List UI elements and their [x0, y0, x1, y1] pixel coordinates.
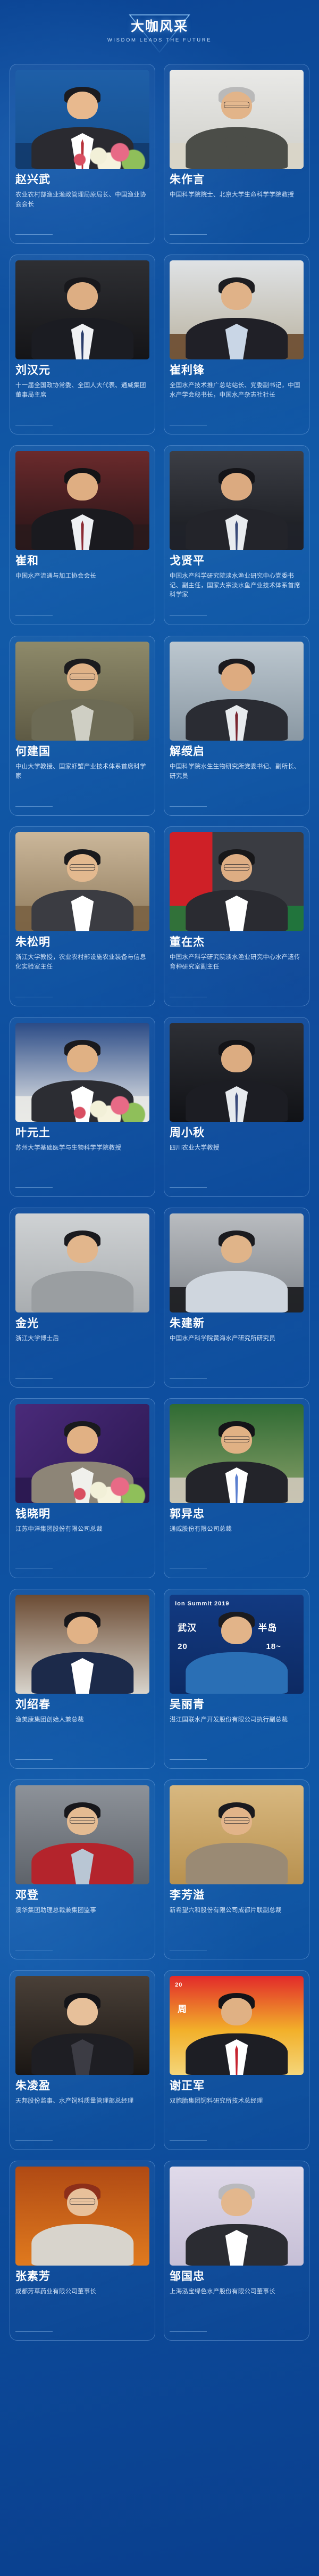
- person-name: 赵兴武: [15, 174, 149, 187]
- person-name: 崔利锋: [170, 364, 304, 378]
- flower-bouquet: [15, 1076, 149, 1122]
- person-title: 苏州大学基础医学与生物科学学院教授: [15, 1144, 149, 1182]
- person-name: 朱凌盈: [15, 2080, 149, 2093]
- person-card[interactable]: 周小秋四川农业大学教授: [164, 1017, 309, 1197]
- person-name: 刘汉元: [15, 364, 149, 378]
- card-divider: [170, 425, 207, 425]
- flower-bouquet: [15, 1457, 149, 1503]
- person-photo: [15, 1976, 149, 2075]
- person-title: 中国水产科学研究院淡水渔业研究中心党委书记、副主任，国家大宗淡水鱼产业技术体系首…: [170, 572, 304, 610]
- person-photo: [15, 1213, 149, 1312]
- card-divider: [170, 997, 207, 997]
- person-title: 新希望六和股份有限公司成都片联副总裁: [170, 1906, 304, 1945]
- photo-illustration: [15, 1976, 149, 2075]
- photo-illustration: ion Summit 2019武汉半岛2018~: [170, 1595, 304, 1694]
- person-photo: [170, 1785, 304, 1884]
- person-name: 钱晓明: [15, 1508, 149, 1521]
- glasses-icon: [224, 864, 249, 871]
- person-name: 刘绍春: [15, 1699, 149, 1712]
- photo-overlay-text: 武汉: [178, 1620, 197, 1634]
- face-shape: [67, 282, 98, 310]
- photo-illustration: [170, 2167, 304, 2266]
- page-header: 大咖风采 WISDOM LEADS THE FUTURE: [0, 0, 319, 58]
- photo-overlay-text: 20: [175, 1982, 182, 1988]
- face-shape: [221, 1998, 252, 2025]
- card-divider: [170, 2331, 207, 2332]
- person-card[interactable]: 李芳溢新希望六和股份有限公司成都片联副总裁: [164, 1779, 309, 1959]
- person-card[interactable]: 朱松明浙江大学教授，农业农村部设施农业装备与信息化实验室主任: [10, 826, 155, 1006]
- person-name: 朱松明: [15, 936, 149, 949]
- person-photo: [15, 1404, 149, 1503]
- person-card[interactable]: 金光浙江大学博士后: [10, 1208, 155, 1388]
- photo-illustration: [15, 642, 149, 741]
- face-shape: [221, 663, 252, 691]
- photo-illustration: [170, 451, 304, 550]
- person-card[interactable]: 郭异忠通威股份有限公司总裁: [164, 1398, 309, 1578]
- card-divider: [170, 1759, 207, 1760]
- person-card[interactable]: 张素芳成都芳草药业有限公司董事长: [10, 2161, 155, 2341]
- person-name: 朱建新: [170, 1317, 304, 1331]
- card-divider: [170, 616, 207, 616]
- person-photo: [15, 642, 149, 741]
- card-divider: [15, 1759, 53, 1760]
- person-card[interactable]: 朱作言中国科学院院士、北京大学生命科学学院教授: [164, 64, 309, 244]
- person-card[interactable]: 邹国忠上海泓宝绿色水产股份有限公司董事长: [164, 2161, 309, 2341]
- person-title: 渔美康集团创始人兼总裁: [15, 1716, 149, 1754]
- photo-illustration: [15, 451, 149, 550]
- card-divider: [15, 1187, 53, 1188]
- person-photo: [170, 451, 304, 550]
- photo-illustration: 20周: [170, 1976, 304, 2075]
- photo-overlay-text: 半岛: [258, 1620, 277, 1634]
- person-title: 浙江大学教授，农业农村部设施农业装备与信息化实验室主任: [15, 953, 149, 991]
- person-photo: [15, 1023, 149, 1122]
- person-photo: [170, 1023, 304, 1122]
- person-title: 湛江国联水产开发股份有限公司执行副总裁: [170, 1716, 304, 1754]
- person-name: 邹国忠: [170, 2270, 304, 2284]
- face-shape: [221, 2188, 252, 2216]
- person-title: 中国水产科学研究院淡水渔业研究中心水产遗传育种研究室副主任: [170, 953, 304, 991]
- person-name: 金光: [15, 1317, 149, 1331]
- people-grid: 赵兴武农业农村部渔业渔政管理局原局长、中国渔业协会会长朱作言中国科学院院士、北京…: [0, 58, 319, 2362]
- person-title: 中国科学院水生生物研究所党委书记、副所长、研究员: [170, 762, 304, 801]
- person-card[interactable]: 何建国中山大学教授、国家虾蟹产业技术体系首席科学家: [10, 636, 155, 816]
- card-divider: [170, 806, 207, 807]
- glasses-icon: [224, 1436, 249, 1442]
- face-shape: [67, 1617, 98, 1644]
- person-card[interactable]: 钱晓明江苏中洋集团股份有限公司总裁: [10, 1398, 155, 1578]
- person-name: 邓登: [15, 1889, 149, 1902]
- person-title: 四川农业大学教授: [170, 1144, 304, 1182]
- face-shape: [67, 1235, 98, 1263]
- glasses-icon: [70, 1817, 95, 1824]
- photo-illustration: [15, 1595, 149, 1694]
- person-title: 浙江大学博士后: [15, 1334, 149, 1373]
- glasses-icon: [224, 1817, 249, 1824]
- person-card[interactable]: 崔和中国水产流通与加工协会会长: [10, 445, 155, 625]
- photo-illustration: [170, 642, 304, 741]
- brand-logo: 大咖风采 WISDOM LEADS THE FUTURE: [93, 4, 226, 53]
- photo-illustration: [170, 1023, 304, 1122]
- person-name: 何建国: [15, 745, 149, 759]
- person-title: 双胞胎集团饲料研究所技术总经理: [170, 2097, 304, 2135]
- person-name: 张素芳: [15, 2270, 149, 2284]
- person-title: 中国水产科学院黄海水产研究所研究员: [170, 1334, 304, 1373]
- person-card[interactable]: 赵兴武农业农村部渔业渔政管理局原局长、中国渔业协会会长: [10, 64, 155, 244]
- card-divider: [170, 1378, 207, 1379]
- face-shape: [221, 1045, 252, 1072]
- person-photo: [170, 70, 304, 169]
- person-name: 谢正军: [170, 2080, 304, 2093]
- person-title: 全国水产技术推广总站站长、党委副书记，中国水产学会秘书长，中国水产杂志社社长: [170, 381, 304, 420]
- photo-overlay-text: 20: [178, 1642, 188, 1651]
- person-card[interactable]: 崔利锋全国水产技术推广总站站长、党委副书记，中国水产学会秘书长，中国水产杂志社社…: [164, 255, 309, 434]
- card-divider: [170, 2140, 207, 2141]
- person-photo: [170, 1404, 304, 1503]
- person-title: 成都芳草药业有限公司董事长: [15, 2287, 149, 2326]
- photo-illustration: [170, 1785, 304, 1884]
- person-title: 通威股份有限公司总裁: [170, 1525, 304, 1563]
- card-divider: [15, 234, 53, 235]
- photo-illustration: [15, 260, 149, 359]
- card-divider: [15, 616, 53, 616]
- photo-illustration: [170, 1213, 304, 1312]
- person-name: 朱作言: [170, 174, 304, 187]
- photo-illustration: [170, 1404, 304, 1503]
- person-photo: [15, 2167, 149, 2266]
- person-name: 郭异忠: [170, 1508, 304, 1521]
- card-divider: [15, 2140, 53, 2141]
- person-title: 中国科学院院士、北京大学生命科学学院教授: [170, 191, 304, 229]
- person-photo: [15, 1595, 149, 1694]
- person-name: 董在杰: [170, 936, 304, 949]
- face-shape: [67, 473, 98, 501]
- person-name: 解绶启: [170, 745, 304, 759]
- person-title: 中山大学教授、国家虾蟹产业技术体系首席科学家: [15, 762, 149, 801]
- card-divider: [170, 1569, 207, 1569]
- person-title: 农业农村部渔业渔政管理局原局长、中国渔业协会会长: [15, 191, 149, 229]
- card-divider: [170, 1187, 207, 1188]
- face-shape: [67, 92, 98, 119]
- face-shape: [221, 473, 252, 501]
- person-name: 李芳溢: [170, 1889, 304, 1902]
- card-divider: [15, 1950, 53, 1950]
- photo-illustration: [170, 70, 304, 169]
- card-divider: [15, 1378, 53, 1379]
- flower-bouquet: [15, 123, 149, 169]
- card-divider: [15, 1569, 53, 1569]
- person-title: 澳华集团助理总裁兼集团监事: [15, 1906, 149, 1945]
- person-card[interactable]: 朱建新中国水产科学院黄海水产研究所研究员: [164, 1208, 309, 1388]
- person-photo: [15, 260, 149, 359]
- person-card[interactable]: 20周谢正军双胞胎集团饲料研究所技术总经理: [164, 1970, 309, 2150]
- card-divider: [170, 234, 207, 235]
- page-subtitle: WISDOM LEADS THE FUTURE: [107, 37, 212, 43]
- person-photo: ion Summit 2019武汉半岛2018~: [170, 1595, 304, 1694]
- face-shape: [221, 282, 252, 310]
- person-title: 上海泓宝绿色水产股份有限公司董事长: [170, 2287, 304, 2326]
- person-card[interactable]: 邓登澳华集团助理总裁兼集团监事: [10, 1779, 155, 1959]
- photo-illustration: [15, 832, 149, 931]
- person-card[interactable]: 朱凌盈天邦股份监事、水产饲料质量管理部总经理: [10, 1970, 155, 2150]
- person-card[interactable]: 刘绍春渔美康集团创始人兼总裁: [10, 1589, 155, 1769]
- person-photo: [15, 832, 149, 931]
- photo-illustration: [15, 2167, 149, 2266]
- card-divider: [170, 1950, 207, 1950]
- photo-overlay-text: 周: [178, 2001, 187, 2015]
- card-divider: [15, 806, 53, 807]
- person-title: 十一届全国政协常委、全国人大代表、通威集团董事局主席: [15, 381, 149, 420]
- photo-overlay-text: ion Summit 2019: [175, 1601, 229, 1607]
- person-name: 周小秋: [170, 1127, 304, 1140]
- glasses-icon: [70, 864, 95, 871]
- person-photo: [170, 2167, 304, 2266]
- person-title: 天邦股份监事、水产饲料质量管理部总经理: [15, 2097, 149, 2135]
- person-photo: [170, 642, 304, 741]
- photo-illustration: [15, 70, 149, 169]
- face-shape: [67, 1998, 98, 2025]
- person-photo: [15, 1785, 149, 1884]
- person-card[interactable]: 解绶启中国科学院水生生物研究所党委书记、副所长、研究员: [164, 636, 309, 816]
- face-shape: [67, 1426, 98, 1454]
- person-card[interactable]: 戈贤平中国水产科学研究院淡水渔业研究中心党委书记、副主任，国家大宗淡水鱼产业技术…: [164, 445, 309, 625]
- glasses-icon: [224, 102, 249, 108]
- person-photo: 20周: [170, 1976, 304, 2075]
- card-divider: [15, 425, 53, 425]
- person-photo: [170, 260, 304, 359]
- person-card[interactable]: ion Summit 2019武汉半岛2018~吴丽青湛江国联水产开发股份有限公…: [164, 1589, 309, 1769]
- photo-illustration: [170, 832, 304, 931]
- face-shape: [67, 1045, 98, 1072]
- glasses-icon: [70, 2198, 95, 2205]
- face-shape: [221, 1235, 252, 1263]
- person-name: 叶元土: [15, 1127, 149, 1140]
- person-card[interactable]: 刘汉元十一届全国政协常委、全国人大代表、通威集团董事局主席: [10, 255, 155, 434]
- person-photo: [15, 70, 149, 169]
- person-card[interactable]: 董在杰中国水产科学研究院淡水渔业研究中心水产遗传育种研究室副主任: [164, 826, 309, 1006]
- card-divider: [15, 2331, 53, 2332]
- person-name: 戈贤平: [170, 555, 304, 568]
- photo-illustration: [15, 1213, 149, 1312]
- person-name: 崔和: [15, 555, 149, 568]
- person-title: 江苏中洋集团股份有限公司总裁: [15, 1525, 149, 1563]
- card-divider: [15, 997, 53, 997]
- photo-illustration: [15, 1785, 149, 1884]
- person-card[interactable]: 叶元土苏州大学基础医学与生物科学学院教授: [10, 1017, 155, 1197]
- person-title: 中国水产流通与加工协会会长: [15, 572, 149, 610]
- photo-illustration: [15, 1404, 149, 1503]
- person-photo: [170, 1213, 304, 1312]
- page-title: 大咖风采: [131, 20, 188, 34]
- photo-overlay-text: 18~: [266, 1642, 281, 1651]
- person-photo: [170, 832, 304, 931]
- face-shape: [221, 1617, 252, 1644]
- photo-illustration: [15, 1023, 149, 1122]
- photo-illustration: [170, 260, 304, 359]
- person-photo: [15, 451, 149, 550]
- glasses-icon: [70, 674, 95, 680]
- person-name: 吴丽青: [170, 1699, 304, 1712]
- page-root: 大咖风采 WISDOM LEADS THE FUTURE 赵兴武农业农村部渔业渔…: [0, 0, 319, 2576]
